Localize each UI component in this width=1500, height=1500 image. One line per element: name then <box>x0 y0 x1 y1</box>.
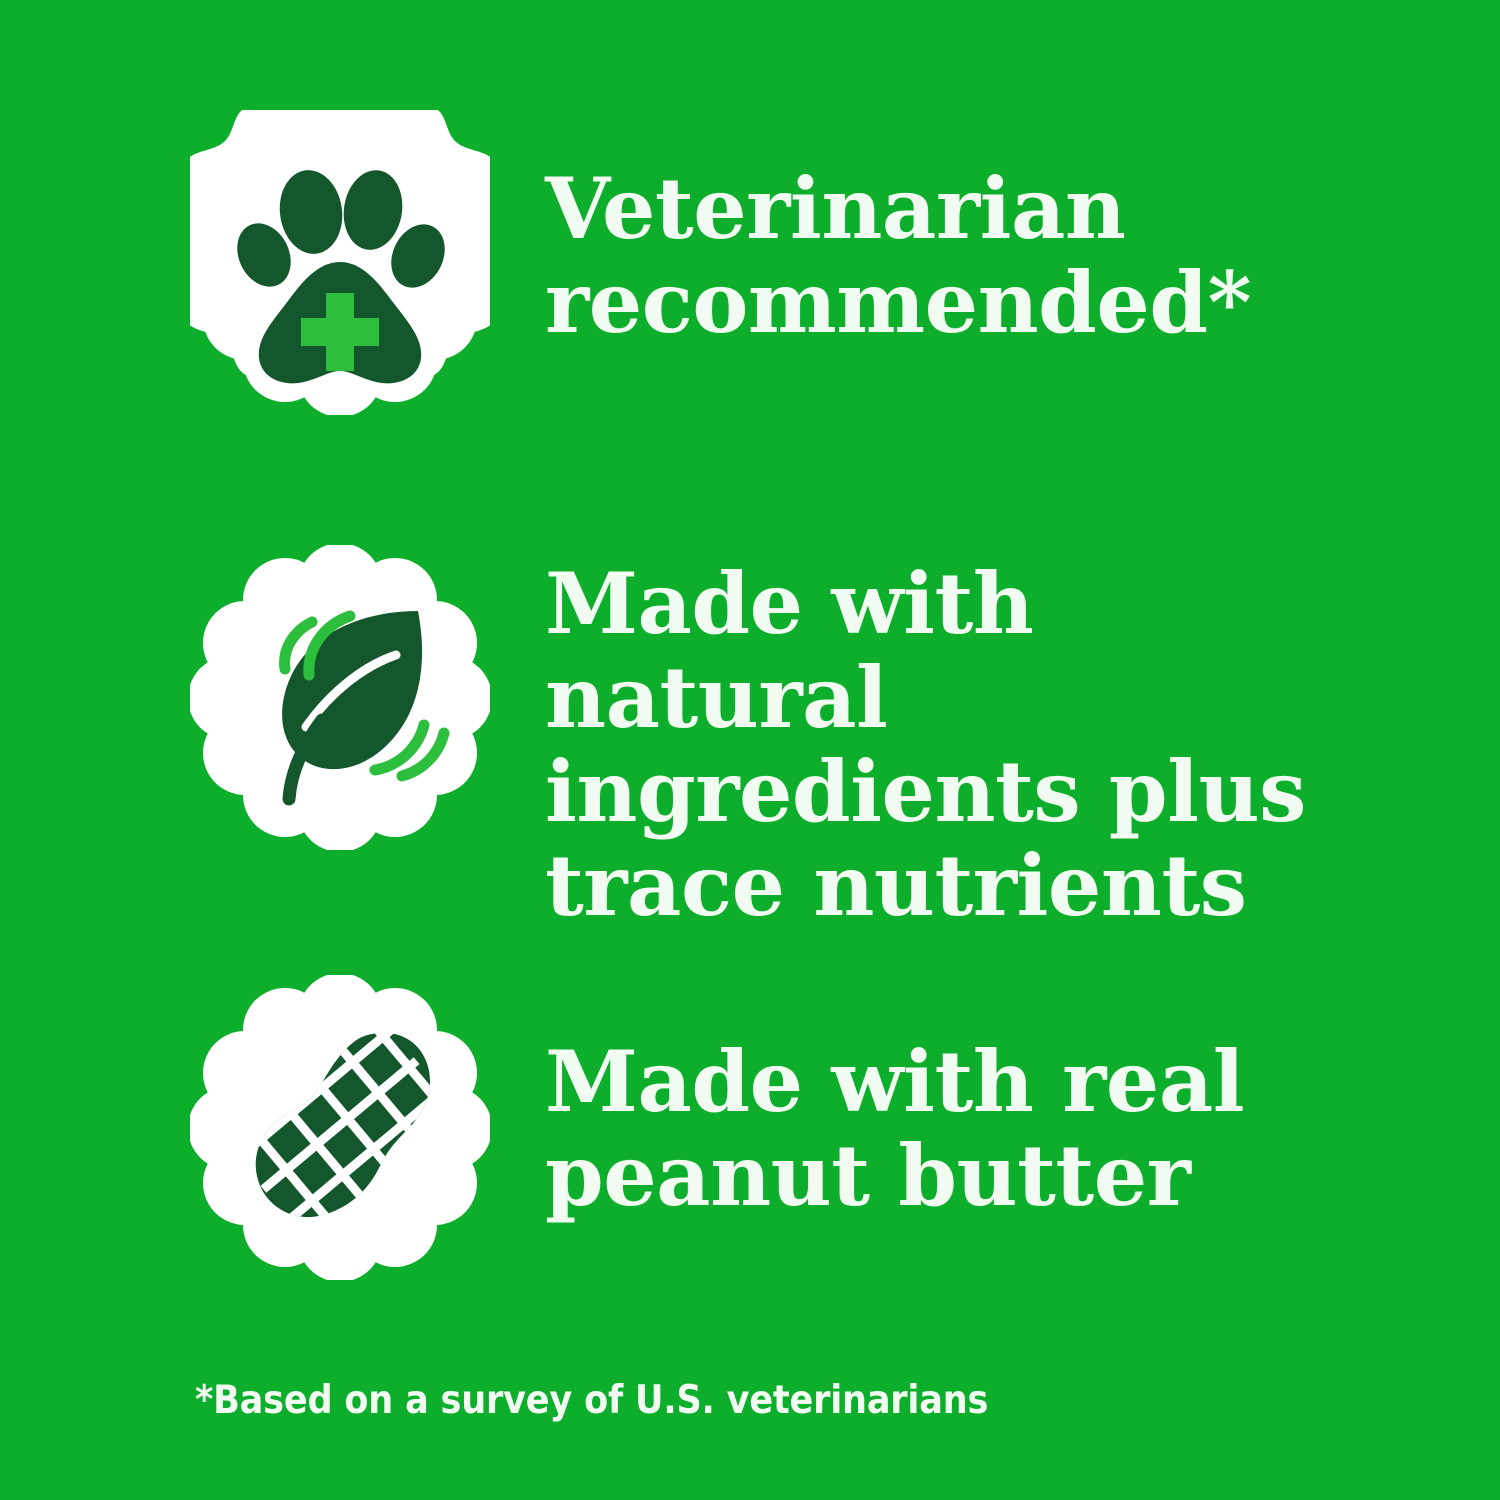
promo-graphic: Veterinarian recommended* <box>0 0 1500 1500</box>
feature-row-natural-ingredients: Made with natural ingredients plus trace… <box>0 545 1500 933</box>
feature-row-veterinarian: Veterinarian recommended* <box>0 110 1500 415</box>
paw-with-medical-cross-icon <box>190 110 490 415</box>
feature-row-peanut-butter: Made with real peanut butter <box>0 975 1500 1280</box>
footnote-disclaimer: *Based on a survey of U.S. veterinarians <box>195 1378 988 1423</box>
badge-peanut-butter <box>190 975 490 1280</box>
feature-text-veterinarian: Veterinarian recommended* <box>545 110 1315 350</box>
badge-natural-ingredients <box>190 545 490 850</box>
peanut-shell-icon <box>190 975 490 1280</box>
feature-text-natural-ingredients: Made with natural ingredients plus trace… <box>545 545 1315 933</box>
feature-text-peanut-butter: Made with real peanut butter <box>545 975 1315 1223</box>
badge-veterinarian-recommended <box>190 110 490 415</box>
leaf-with-motion-lines-icon <box>190 545 490 850</box>
